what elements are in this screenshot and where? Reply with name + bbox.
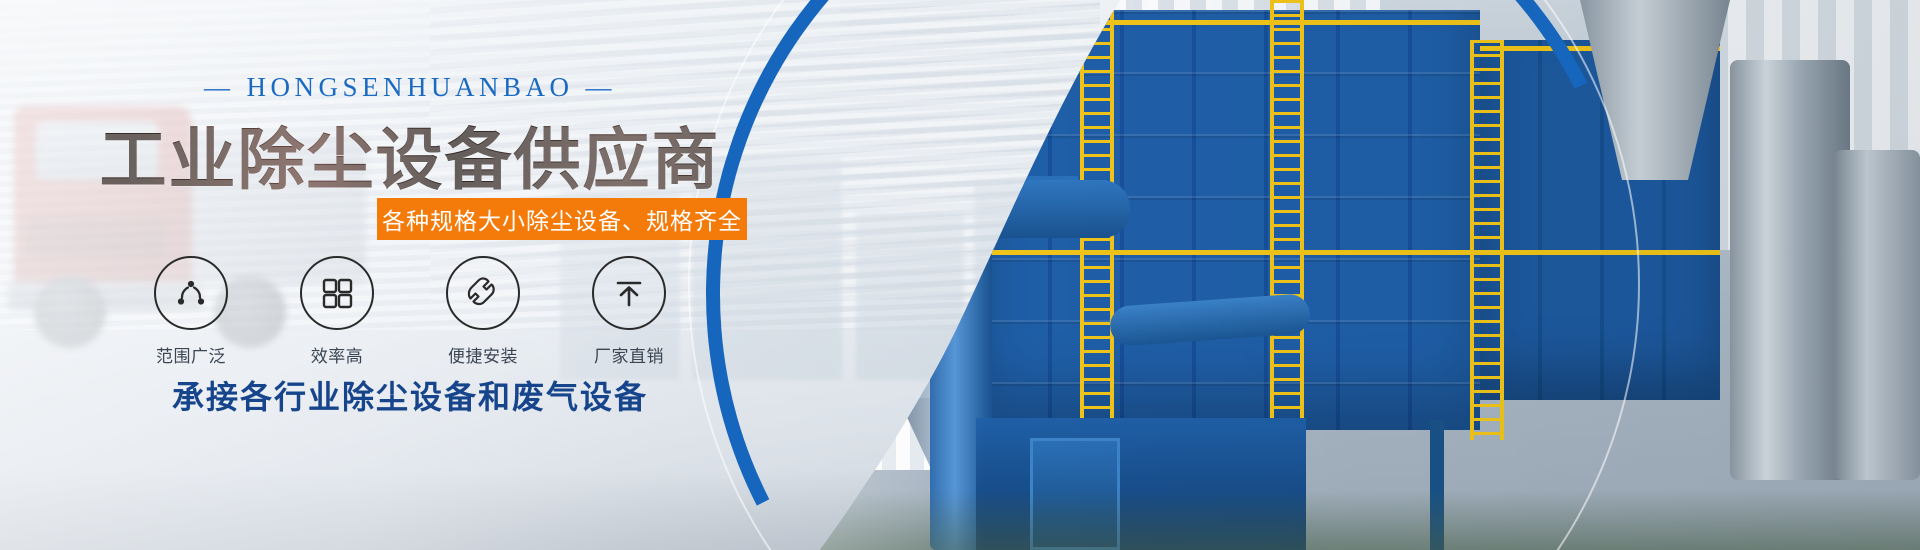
feature-icon-circle bbox=[446, 256, 520, 330]
feature-item-efficiency[interactable]: 效率高 bbox=[285, 256, 389, 367]
brand-pinyin-text: HONGSENHUANBAO bbox=[246, 72, 573, 102]
feature-label: 厂家直销 bbox=[577, 342, 681, 367]
subtitle-text: 各种规格大小除尘设备、规格齐全 bbox=[382, 202, 742, 236]
hero-banner: —HONGSENHUANBAO— 工业除尘设备供应商 各种规格大小除尘设备、规格… bbox=[0, 0, 1920, 550]
dash-right-icon: — bbox=[586, 73, 617, 103]
grid-four-squares-icon bbox=[318, 274, 356, 312]
feature-label: 范围广泛 bbox=[139, 342, 243, 367]
feature-label: 效率高 bbox=[285, 342, 389, 367]
feature-item-scope[interactable]: 范围广泛 bbox=[139, 256, 243, 367]
feature-icon-circle bbox=[300, 256, 374, 330]
feature-icon-circle bbox=[154, 256, 228, 330]
feature-icon-circle bbox=[592, 256, 666, 330]
dash-left-icon: — bbox=[204, 73, 235, 103]
arrow-up-bar-icon bbox=[610, 274, 648, 312]
banner-tagline: 承接各行业除尘设备和废气设备 bbox=[0, 372, 820, 418]
subtitle-orange-bar: 各种规格大小除尘设备、规格齐全 bbox=[377, 198, 747, 240]
wrench-icon bbox=[463, 273, 503, 313]
page-title: 工业除尘设备供应商 bbox=[0, 106, 820, 203]
feature-item-install[interactable]: 便捷安装 bbox=[431, 256, 535, 367]
feature-list: 范围广泛 效率高 bbox=[0, 256, 820, 367]
brand-pinyin: —HONGSENHUANBAO— bbox=[0, 72, 820, 103]
scope-network-icon bbox=[171, 273, 211, 313]
feature-label: 便捷安装 bbox=[431, 342, 535, 367]
feature-item-factory-direct[interactable]: 厂家直销 bbox=[577, 256, 681, 367]
banner-content: —HONGSENHUANBAO— 工业除尘设备供应商 各种规格大小除尘设备、规格… bbox=[0, 0, 1100, 550]
